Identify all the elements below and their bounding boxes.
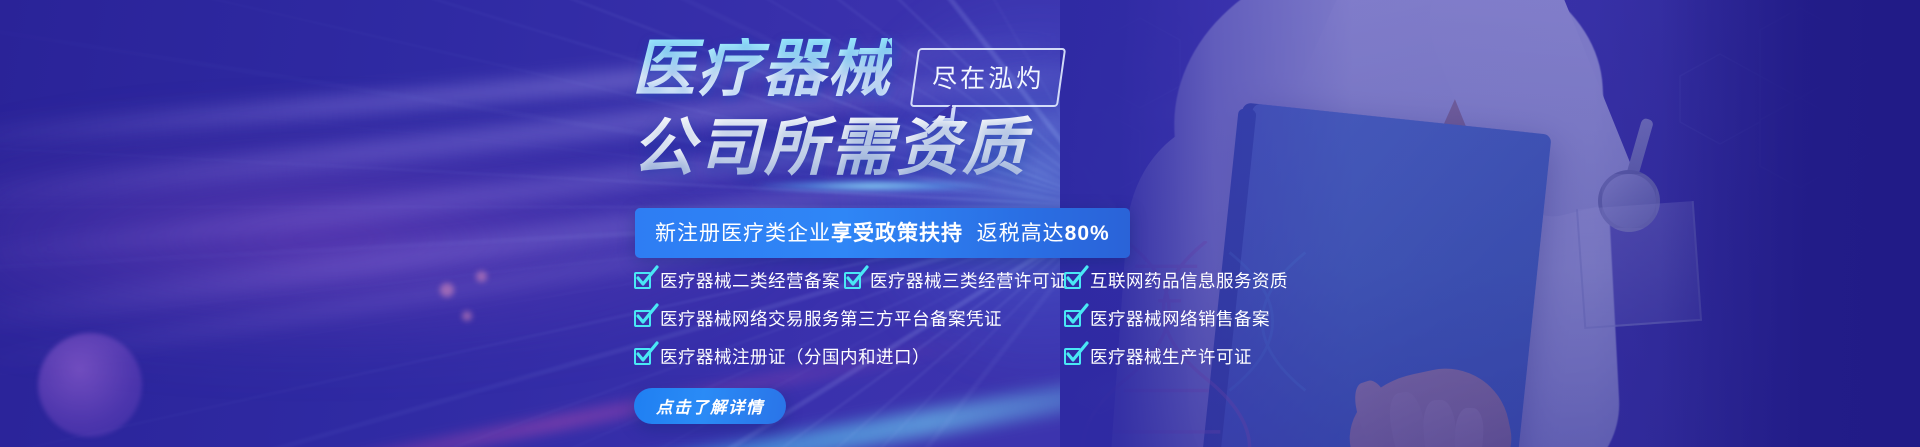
photo-right-fade xyxy=(1660,0,1920,447)
qualification-checklist: 医疗器械二类经营备案 医疗器械三类经营许可证 互联网药品信息服务资质 xyxy=(634,268,1288,382)
checklist-item-label: 医疗器械网络交易服务第三方平台备案凭证 xyxy=(660,306,1002,331)
brand-speech-bubble: 尽在泓灼 xyxy=(910,48,1066,107)
promo-text-b: 享受政策扶持 xyxy=(831,222,963,245)
checklist-item[interactable]: 医疗器械网络交易服务第三方平台备案凭证 xyxy=(634,306,1064,331)
checklist-item[interactable]: 医疗器械三类经营许可证 xyxy=(844,268,1064,293)
promo-subbar-text: 新注册医疗类企业享受政策扶持 返税高达80% xyxy=(655,217,1110,247)
checkbox-checked-icon xyxy=(634,272,651,289)
checklist-item-label: 互联网药品信息服务资质 xyxy=(1090,268,1288,293)
checklist-item[interactable]: 医疗器械网络销售备案 xyxy=(1064,306,1270,331)
checkbox-checked-icon xyxy=(1064,348,1081,365)
checklist-item[interactable]: 医疗器械生产许可证 xyxy=(1064,344,1252,369)
checklist-item[interactable]: 医疗器械二类经营备案 xyxy=(634,268,844,293)
checklist-item[interactable]: 互联网药品信息服务资质 xyxy=(1064,268,1288,293)
headline-line-2-text: 公司所需资质 xyxy=(632,113,1028,183)
banner-content: 医疗器械 尽在泓灼 公司所需资质 新注册医疗类企业享受政策扶持 返税高达80% xyxy=(632,0,1632,447)
brand-speech-bubble-label: 尽在泓灼 xyxy=(932,59,1044,95)
background-bokeh-dots xyxy=(440,265,560,335)
checklist-item-label: 医疗器械三类经营许可证 xyxy=(870,268,1068,293)
checkbox-checked-icon xyxy=(1064,272,1081,289)
checklist-row: 医疗器械注册证（分国内和进口） 医疗器械生产许可证 xyxy=(634,344,1288,369)
learn-more-button-label: 点击了解详情 xyxy=(656,394,764,418)
headline-line-2: 公司所需资质 xyxy=(632,113,1062,184)
promo-subbar: 新注册医疗类企业享受政策扶持 返税高达80% xyxy=(635,208,1130,258)
checklist-item-label: 医疗器械注册证（分国内和进口） xyxy=(660,344,930,369)
checklist-item-label: 医疗器械生产许可证 xyxy=(1090,344,1252,369)
checkbox-checked-icon xyxy=(1064,310,1081,327)
background-purple-circle xyxy=(38,333,142,437)
checkbox-checked-icon xyxy=(634,310,651,327)
headline-underglow xyxy=(752,180,992,192)
checkbox-checked-icon xyxy=(634,348,651,365)
learn-more-button[interactable]: 点击了解详情 xyxy=(634,388,786,424)
promo-text-c: 返税高达 xyxy=(977,222,1065,245)
checklist-row: 医疗器械网络交易服务第三方平台备案凭证 医疗器械网络销售备案 xyxy=(634,306,1288,331)
checklist-item-label: 医疗器械二类经营备案 xyxy=(660,268,840,293)
checkbox-checked-icon xyxy=(844,272,861,289)
promo-text-d: 80% xyxy=(1065,222,1110,245)
medical-device-qualification-banner: 医疗器械 尽在泓灼 公司所需资质 新注册医疗类企业享受政策扶持 返税高达80% xyxy=(0,0,1920,447)
headline-line-1: 医疗器械 xyxy=(632,38,892,101)
checklist-item[interactable]: 医疗器械注册证（分国内和进口） xyxy=(634,344,1064,369)
checklist-row: 医疗器械二类经营备案 医疗器械三类经营许可证 互联网药品信息服务资质 xyxy=(634,268,1288,293)
promo-text-a: 新注册医疗类企业 xyxy=(655,222,831,245)
checklist-item-label: 医疗器械网络销售备案 xyxy=(1090,306,1270,331)
headline-block: 医疗器械 尽在泓灼 公司所需资质 xyxy=(632,38,1062,184)
